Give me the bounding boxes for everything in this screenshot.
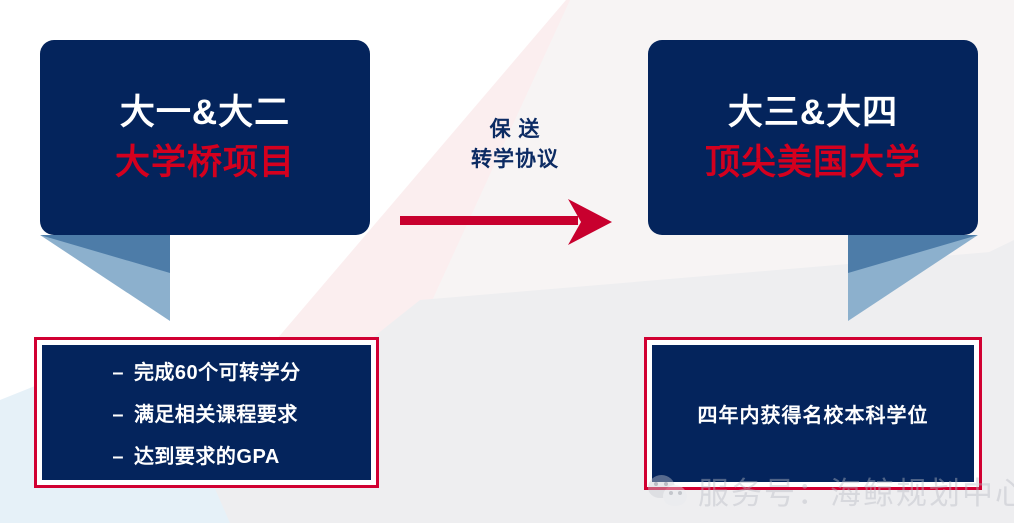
transition-label: 保 送 转学协议	[425, 115, 605, 176]
bullet-dash-icon: –	[112, 404, 124, 427]
bullet-dash-icon: –	[112, 446, 124, 469]
right-card-subtitle: 顶尖美国大学	[705, 141, 921, 185]
outcome-text: 四年内获得名校本科学位	[698, 399, 929, 428]
outcome-box[interactable]: 四年内获得名校本科学位	[644, 337, 982, 490]
left-card-title: 大一&大二	[120, 91, 290, 135]
right-arrow-icon	[400, 199, 612, 245]
stage-card-right[interactable]: 大三&大四 顶尖美国大学	[648, 40, 978, 235]
arrow-shaft	[400, 216, 578, 225]
bullet-dash-icon: –	[112, 362, 124, 385]
list-item-label: 完成60个可转学分	[134, 356, 301, 385]
requirements-box-inner: – 完成60个可转学分 – 满足相关课程要求 – 达到要求的GPA	[42, 345, 371, 480]
list-item-label: 达到要求的GPA	[134, 440, 280, 469]
outcome-box-inner: 四年内获得名校本科学位	[652, 345, 974, 482]
list-item: – 满足相关课程要求	[112, 398, 300, 427]
transition-label-line1: 保 送	[425, 115, 605, 145]
slide-canvas: 大一&大二 大学桥项目 大三&大四 顶尖美国大学 保 送 转学协议 – 完成60…	[0, 0, 1014, 523]
list-item: – 完成60个可转学分	[112, 356, 300, 385]
stage-card-left[interactable]: 大一&大二 大学桥项目	[40, 40, 370, 235]
requirements-list: – 完成60个可转学分 – 满足相关课程要求 – 达到要求的GPA	[112, 356, 300, 469]
right-card-title: 大三&大四	[728, 91, 898, 135]
left-card-subtitle: 大学桥项目	[115, 141, 295, 185]
requirements-box[interactable]: – 完成60个可转学分 – 满足相关课程要求 – 达到要求的GPA	[34, 337, 379, 488]
list-item-label: 满足相关课程要求	[134, 398, 298, 427]
transition-label-line2: 转学协议	[425, 145, 605, 175]
list-item: – 达到要求的GPA	[112, 440, 300, 469]
